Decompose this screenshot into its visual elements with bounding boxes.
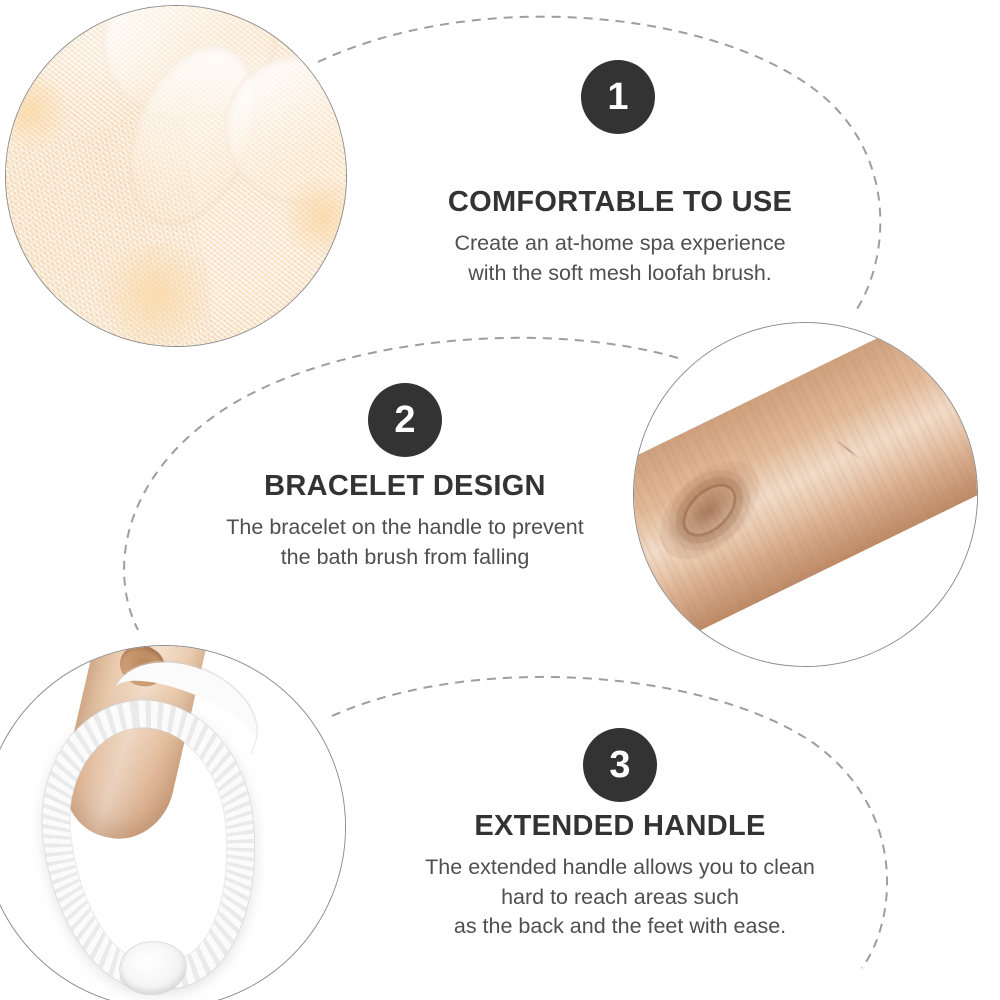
loofah-mesh-closeup-photo <box>5 5 347 347</box>
feature-title-2: BRACELET DESIGN <box>155 470 655 503</box>
wooden-handle-closeup-photo <box>633 322 978 667</box>
feature-description-1: Create an at-home spa experience with th… <box>370 229 870 288</box>
feature-text-1: COMFORTABLE TO USE Create an at-home spa… <box>370 186 870 288</box>
feature-text-3: EXTENDED HANDLE The extended handle allo… <box>370 810 870 942</box>
feature-description-3: The extended handle allows you to clean … <box>370 853 870 942</box>
feature-badge-2: 2 <box>368 383 442 457</box>
feature-badge-1-number: 1 <box>607 78 628 116</box>
feature-badge-1: 1 <box>581 60 655 134</box>
feature-title-1: COMFORTABLE TO USE <box>370 186 870 219</box>
rope-bracelet-closeup-photo <box>0 645 346 1000</box>
feature-description-2: The bracelet on the handle to prevent th… <box>155 513 655 572</box>
feature-badge-2-number: 2 <box>394 401 415 439</box>
feature-badge-3-number: 3 <box>609 746 630 784</box>
feature-badge-3: 3 <box>583 728 657 802</box>
infographic-canvas: 1 COMFORTABLE TO USE Create an at-home s… <box>0 0 1000 1000</box>
loofah-shadow-bottom <box>88 244 224 346</box>
feature-title-3: EXTENDED HANDLE <box>370 810 870 843</box>
feature-text-2: BRACELET DESIGN The bracelet on the hand… <box>155 470 655 572</box>
